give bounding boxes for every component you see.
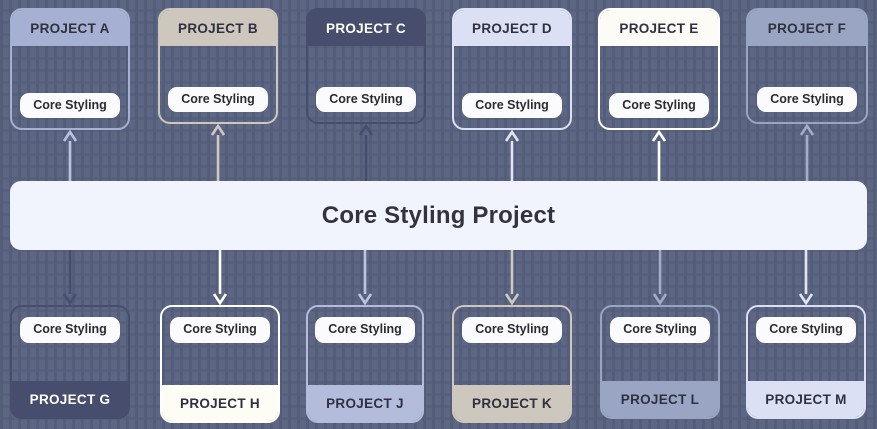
- core-styling-project-hub[interactable]: Core Styling Project: [10, 181, 867, 250]
- project-card-a[interactable]: PROJECT A Core Styling: [10, 8, 130, 130]
- project-card-j[interactable]: Core Styling PROJECT J: [306, 305, 424, 423]
- card-band-g: PROJECT G: [12, 381, 128, 417]
- core-styling-pill-j[interactable]: Core Styling: [315, 317, 415, 343]
- card-body-m: Core Styling: [748, 307, 864, 381]
- project-label-e: PROJECT E: [619, 21, 698, 36]
- project-label-k: PROJECT K: [472, 396, 552, 411]
- project-card-f[interactable]: PROJECT F Core Styling: [746, 8, 868, 124]
- project-card-h[interactable]: Core Styling PROJECT H: [160, 305, 280, 423]
- card-body-l: Core Styling: [602, 307, 718, 381]
- core-styling-pill-c[interactable]: Core Styling: [316, 87, 416, 113]
- card-body-j: Core Styling: [308, 307, 422, 385]
- core-styling-pill-g[interactable]: Core Styling: [20, 317, 120, 343]
- card-body-g: Core Styling: [12, 307, 128, 381]
- project-label-b: PROJECT B: [178, 21, 258, 36]
- project-label-g: PROJECT G: [30, 392, 111, 407]
- core-styling-pill-d[interactable]: Core Styling: [462, 93, 562, 119]
- project-card-e[interactable]: PROJECT E Core Styling: [598, 8, 720, 130]
- diagram-stage: PROJECT A Core Styling PROJECT B Core St…: [0, 0, 877, 429]
- project-card-d[interactable]: PROJECT D Core Styling: [452, 8, 572, 130]
- card-band-a: PROJECT A: [12, 10, 128, 46]
- card-body-a: Core Styling: [12, 46, 128, 128]
- core-styling-pill-a[interactable]: Core Styling: [20, 93, 120, 119]
- project-card-g[interactable]: Core Styling PROJECT G: [10, 305, 130, 419]
- core-styling-pill-h[interactable]: Core Styling: [170, 317, 270, 343]
- card-body-b: Core Styling: [160, 46, 276, 122]
- project-label-f: PROJECT F: [768, 21, 846, 36]
- project-card-m[interactable]: Core Styling PROJECT M: [746, 305, 866, 419]
- card-body-h: Core Styling: [162, 307, 278, 385]
- project-label-j: PROJECT J: [326, 396, 404, 411]
- card-band-d: PROJECT D: [454, 10, 570, 46]
- project-card-c[interactable]: PROJECT C Core Styling: [306, 8, 426, 124]
- hub-title: Core Styling Project: [322, 202, 555, 230]
- card-band-m: PROJECT M: [748, 381, 864, 417]
- project-label-c: PROJECT C: [326, 21, 406, 36]
- project-label-m: PROJECT M: [765, 392, 846, 407]
- card-body-d: Core Styling: [454, 46, 570, 128]
- card-band-e: PROJECT E: [600, 10, 718, 46]
- card-body-e: Core Styling: [600, 46, 718, 128]
- project-card-b[interactable]: PROJECT B Core Styling: [158, 8, 278, 124]
- card-band-l: PROJECT L: [602, 381, 718, 417]
- core-styling-pill-f[interactable]: Core Styling: [757, 87, 857, 113]
- card-band-j: PROJECT J: [308, 385, 422, 421]
- core-styling-pill-b[interactable]: Core Styling: [168, 87, 268, 113]
- card-band-c: PROJECT C: [308, 10, 424, 46]
- card-band-b: PROJECT B: [160, 10, 276, 46]
- core-styling-pill-m[interactable]: Core Styling: [756, 317, 856, 343]
- core-styling-pill-e[interactable]: Core Styling: [609, 93, 709, 119]
- card-band-k: PROJECT K: [454, 385, 570, 421]
- card-body-c: Core Styling: [308, 46, 424, 122]
- project-label-a: PROJECT A: [30, 21, 109, 36]
- card-band-f: PROJECT F: [748, 10, 866, 46]
- project-label-l: PROJECT L: [621, 392, 699, 407]
- project-label-h: PROJECT H: [180, 396, 260, 411]
- core-styling-pill-l[interactable]: Core Styling: [610, 317, 710, 343]
- core-styling-pill-k[interactable]: Core Styling: [462, 317, 562, 343]
- card-band-h: PROJECT H: [162, 385, 278, 421]
- project-card-k[interactable]: Core Styling PROJECT K: [452, 305, 572, 423]
- card-body-k: Core Styling: [454, 307, 570, 385]
- card-body-f: Core Styling: [748, 46, 866, 122]
- project-card-l[interactable]: Core Styling PROJECT L: [600, 305, 720, 419]
- project-label-d: PROJECT D: [472, 21, 552, 36]
